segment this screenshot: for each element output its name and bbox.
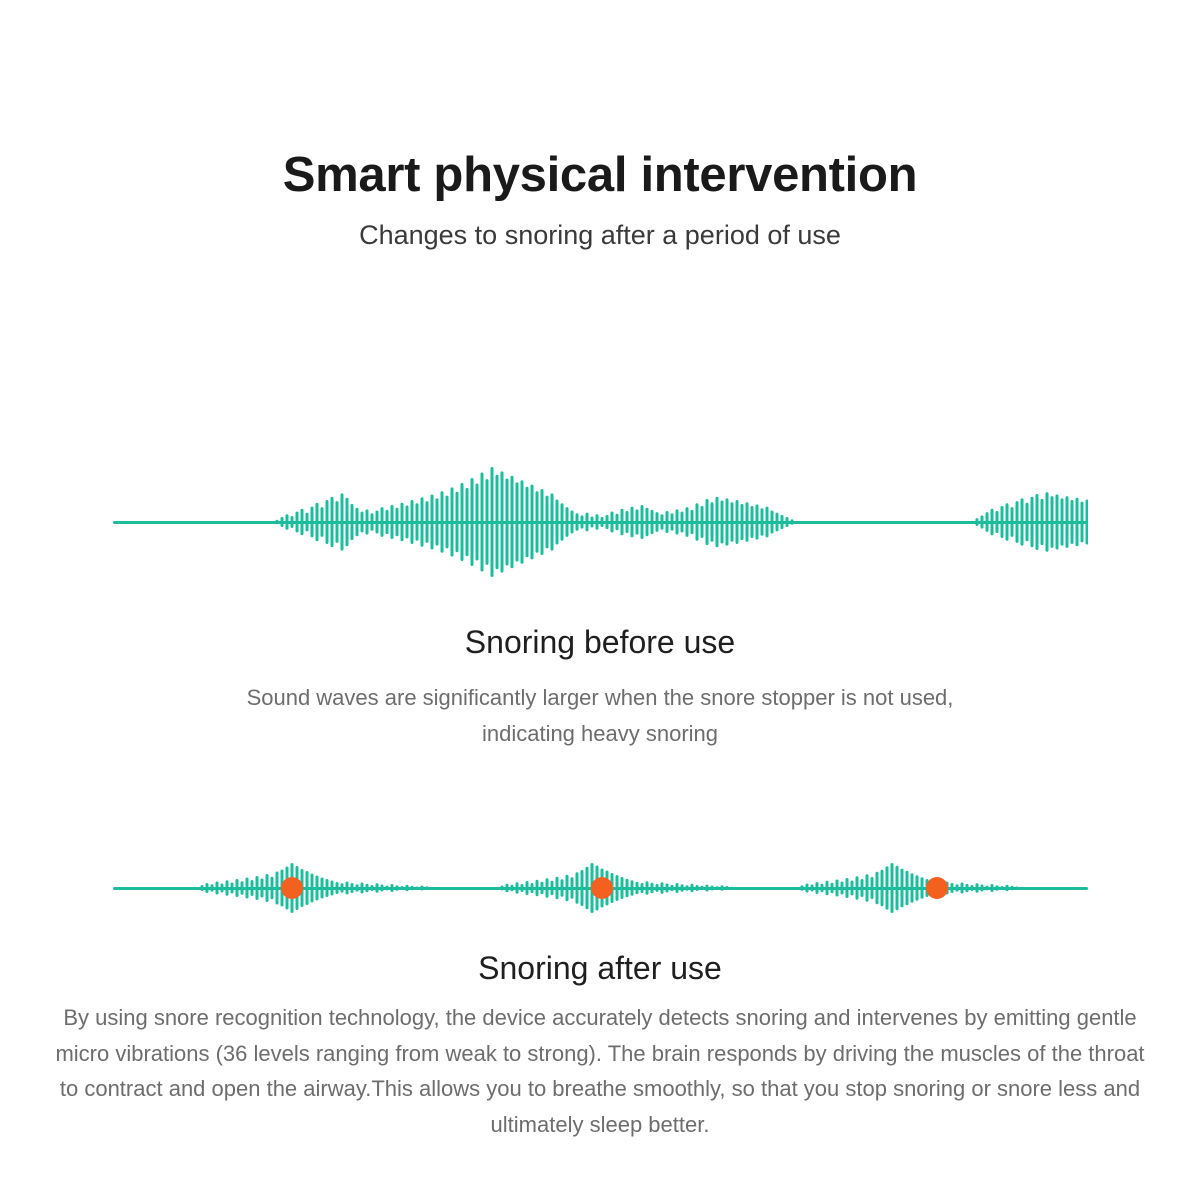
section-heading-before: Snoring before use bbox=[0, 622, 1200, 662]
vibration-marker-icon bbox=[281, 877, 303, 899]
waveform-after-use bbox=[0, 858, 1200, 918]
caption-before-use: Snoring before use Sound waves are signi… bbox=[0, 622, 1200, 751]
caption-after-use: Snoring after use By using snore recogni… bbox=[0, 948, 1200, 1143]
vibration-marker-icon bbox=[591, 877, 613, 899]
vibration-marker-icon bbox=[926, 877, 948, 899]
page-title: Smart physical intervention bbox=[0, 148, 1200, 203]
promo-page: Smart physical intervention Changes to s… bbox=[0, 0, 1200, 1200]
waveform-before-bars bbox=[113, 462, 1088, 582]
section-body-before: Sound waves are significantly larger whe… bbox=[220, 662, 980, 751]
section-heading-after: Snoring after use bbox=[0, 948, 1200, 988]
header: Smart physical intervention Changes to s… bbox=[0, 148, 1200, 251]
waveform-before-stage bbox=[113, 462, 1088, 582]
page-subtitle: Changes to snoring after a period of use bbox=[0, 203, 1200, 251]
waveform-after-stage bbox=[113, 858, 1088, 918]
section-body-after: By using snore recognition technology, t… bbox=[50, 988, 1150, 1143]
waveform-before-use bbox=[0, 462, 1200, 582]
